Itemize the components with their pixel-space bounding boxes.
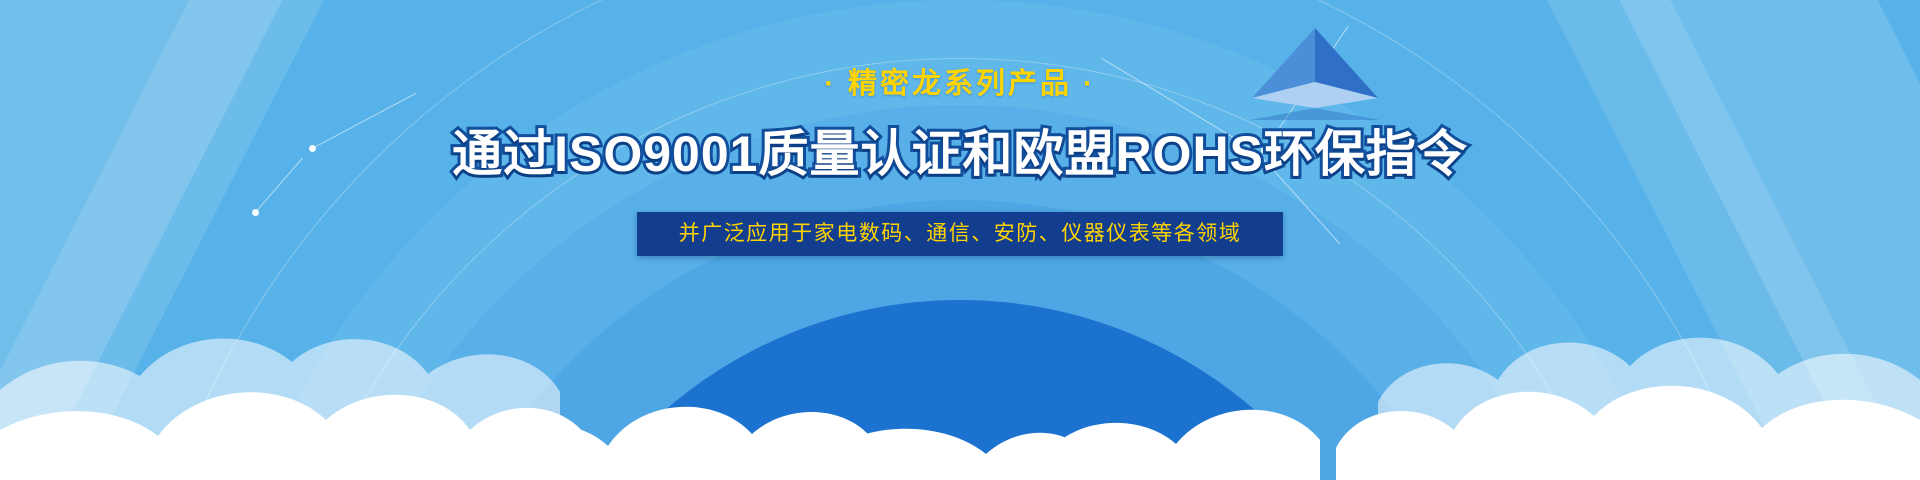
subtitle-bar: 并广泛应用于家电数码、通信、安防、仪器仪表等各领域 <box>637 212 1284 256</box>
promo-banner: · 精密龙系列产品 · 通过ISO9001质量认证和欧盟ROHS环保指令 并广泛… <box>0 0 1920 480</box>
banner-text-block: · 精密龙系列产品 · 通过ISO9001质量认证和欧盟ROHS环保指令 并广泛… <box>0 0 1920 480</box>
headline-text: 通过ISO9001质量认证和欧盟ROHS环保指令 <box>452 126 1468 184</box>
eyebrow-text: · 精密龙系列产品 · <box>824 70 1095 99</box>
subtitle-text: 并广泛应用于家电数码、通信、安防、仪器仪表等各领域 <box>679 222 1242 245</box>
